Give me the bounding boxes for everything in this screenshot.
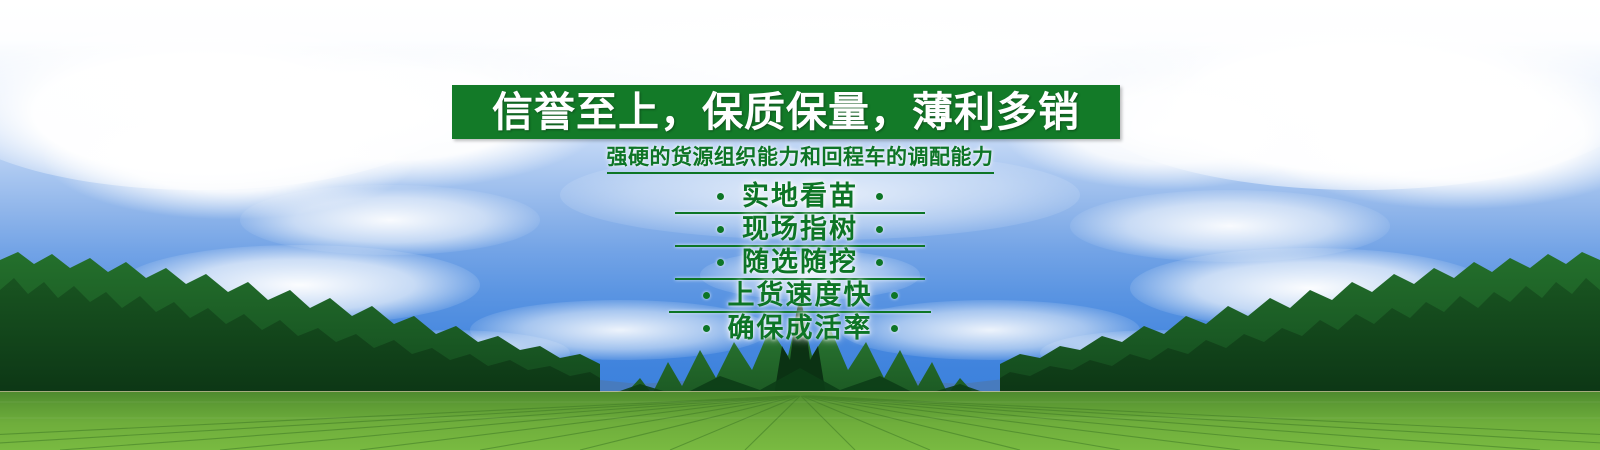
list-item: 确保成活率	[0, 312, 1600, 345]
dot-bullet-icon	[717, 193, 724, 200]
dot-bullet-icon	[876, 226, 883, 233]
dot-bullet-icon	[703, 292, 710, 299]
dot-bullet-icon	[703, 325, 710, 332]
title-bar: 信誉至上，保质保量，薄利多销	[452, 85, 1120, 139]
list-item: 上货速度快	[0, 279, 1600, 312]
feature-label: 随选随挖	[742, 249, 858, 276]
subtitle-wrap: 强硬的货源组织能力和回程车的调配能力	[0, 146, 1600, 174]
dot-bullet-icon	[876, 193, 883, 200]
dot-bullet-icon	[891, 292, 898, 299]
dot-bullet-icon	[717, 226, 724, 233]
dot-bullet-icon	[891, 325, 898, 332]
dot-bullet-icon	[717, 259, 724, 266]
feature-label: 确保成活率	[728, 315, 873, 342]
list-item: 实地看苗	[0, 180, 1600, 213]
feature-label: 上货速度快	[728, 282, 873, 309]
page-title: 信誉至上，保质保量，薄利多销	[492, 92, 1080, 133]
dot-bullet-icon	[876, 259, 883, 266]
list-item: 现场指树	[0, 213, 1600, 246]
list-item: 随选随挖	[0, 246, 1600, 279]
feature-label: 实地看苗	[742, 183, 858, 210]
feature-list: 实地看苗 现场指树 随选随挖	[0, 180, 1600, 345]
subtitle: 强硬的货源组织能力和回程车的调配能力	[607, 146, 994, 174]
feature-label: 现场指树	[742, 216, 858, 243]
promo-banner: 信誉至上，保质保量，薄利多销 强硬的货源组织能力和回程车的调配能力 实地看苗 现…	[0, 0, 1600, 450]
banner-content: 信誉至上，保质保量，薄利多销 强硬的货源组织能力和回程车的调配能力 实地看苗 现…	[0, 0, 1600, 450]
